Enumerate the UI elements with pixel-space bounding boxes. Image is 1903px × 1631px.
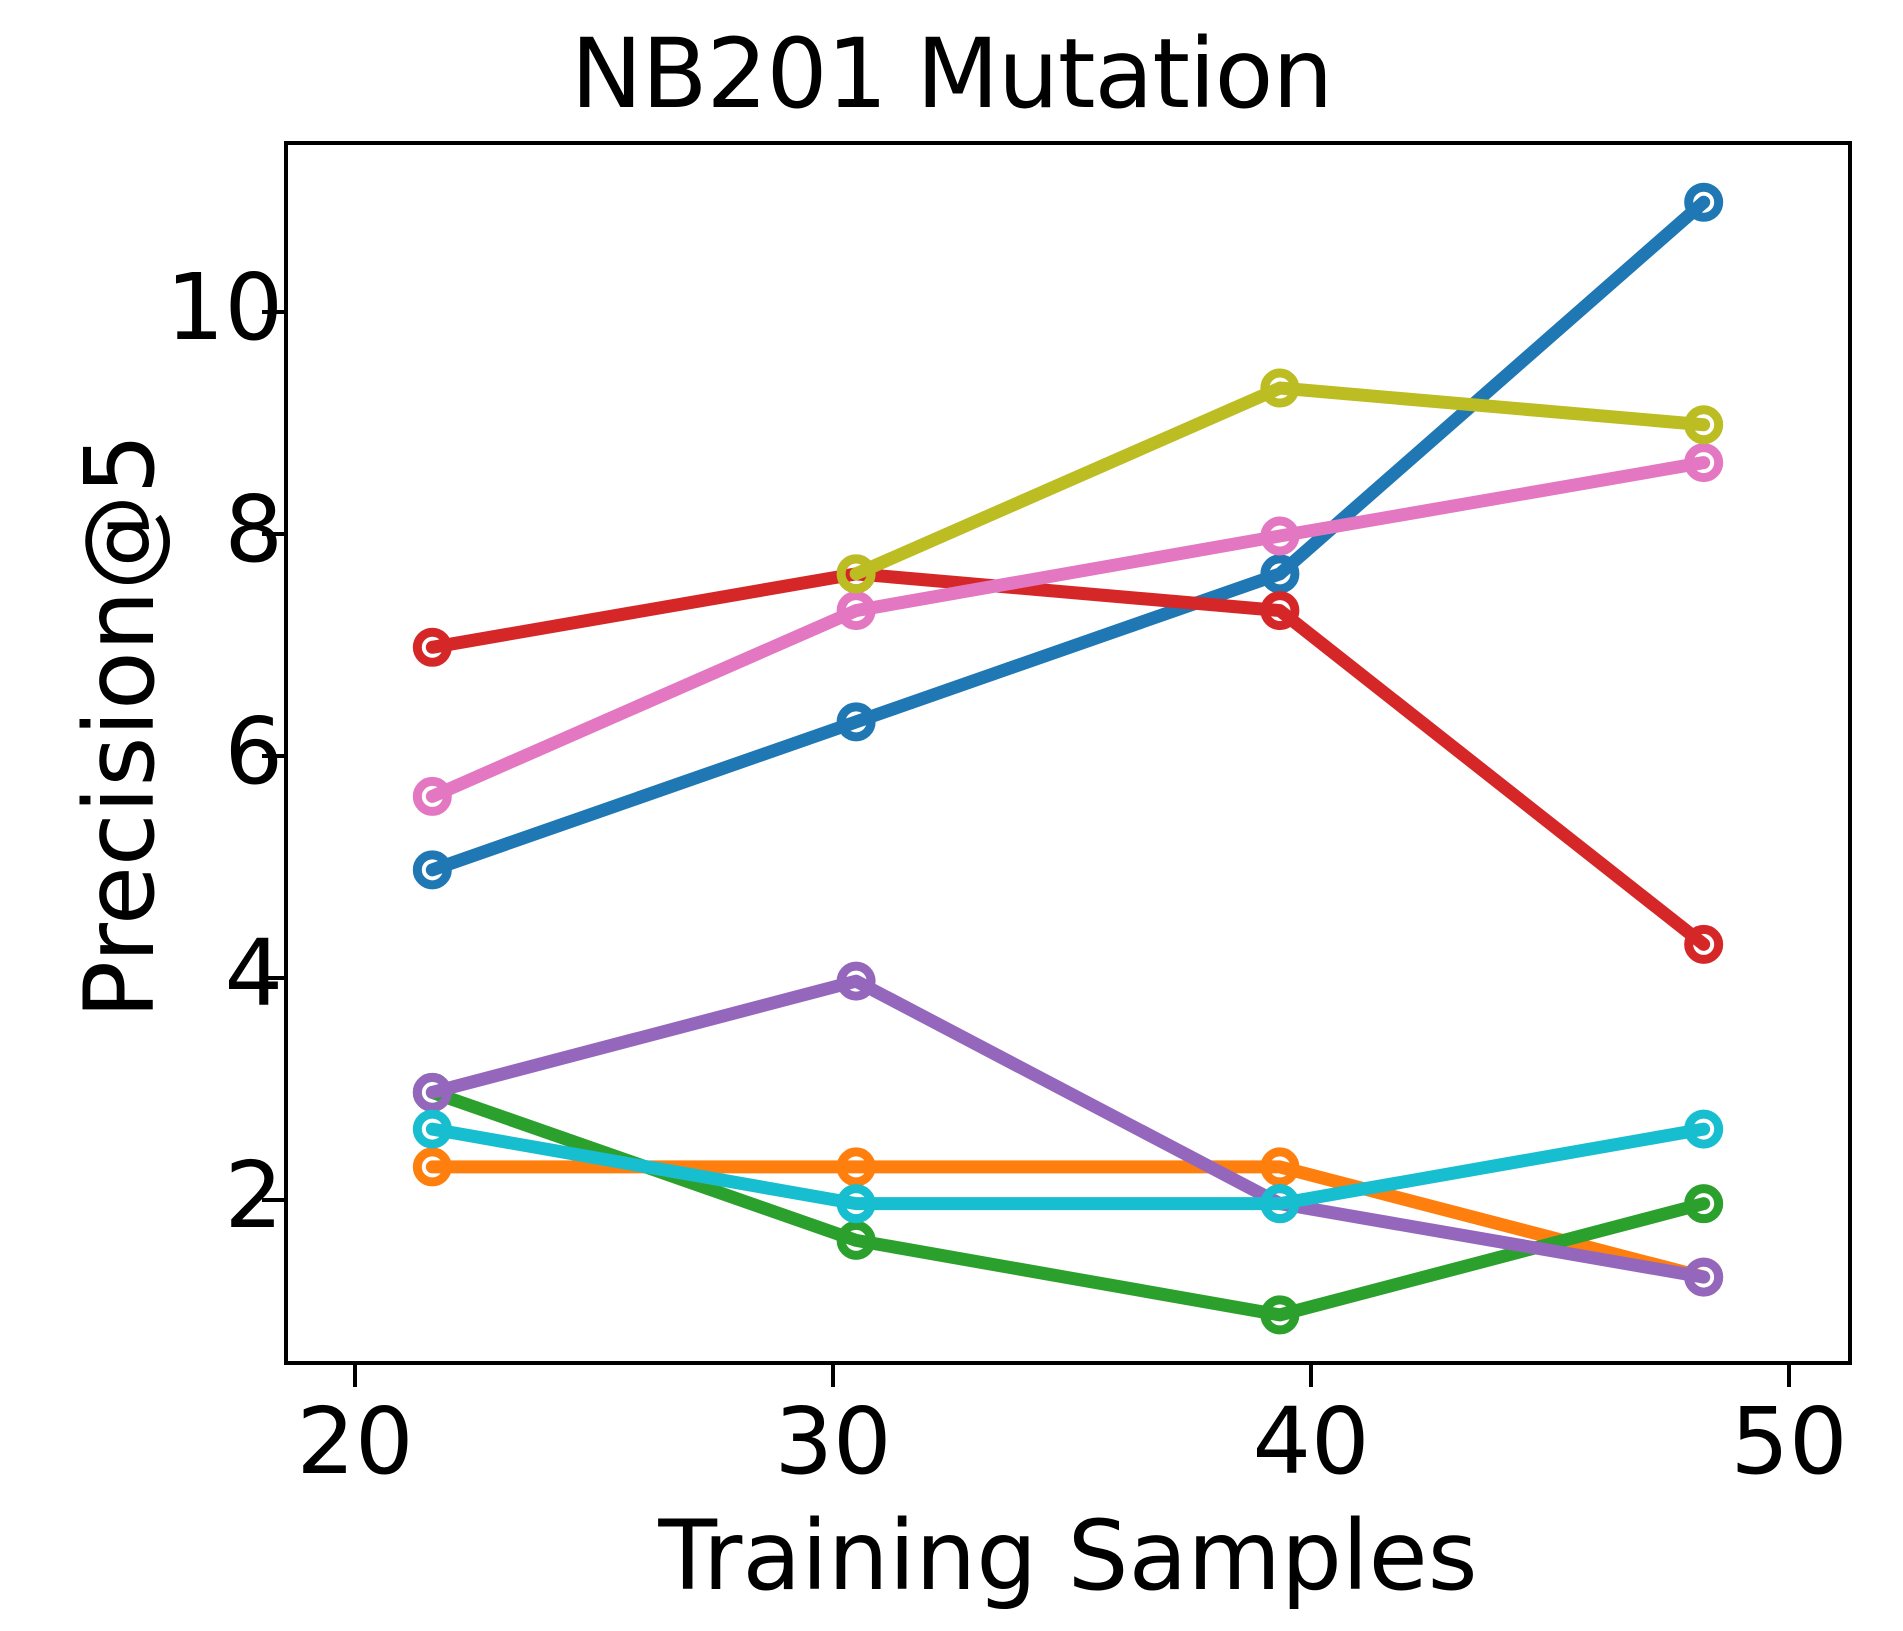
xtick-label-40: 40 [1252, 1396, 1369, 1488]
series-line [432, 463, 1703, 797]
xtick-mark-20 [353, 1365, 357, 1387]
series-line [432, 574, 1703, 945]
xtick-mark-50 [1787, 1365, 1791, 1387]
ytick-label-10: 10 [166, 262, 283, 354]
line-series-series-5 [417, 966, 1718, 1292]
y-axis-label: Precision@5 [64, 276, 176, 1176]
line-series-series-7 [417, 448, 1718, 812]
xtick-label-30: 30 [774, 1396, 891, 1488]
series-line [432, 202, 1703, 870]
xtick-mark-40 [1309, 1365, 1313, 1387]
series-line [432, 1167, 1703, 1277]
ytick-label-8: 8 [224, 484, 283, 576]
xtick-label-50: 50 [1730, 1396, 1847, 1488]
ytick-label-6: 6 [224, 706, 283, 798]
chart-title: NB201 Mutation [0, 18, 1903, 130]
x-axis-label: Training Samples [284, 1500, 1852, 1612]
chart-figure: NB201 Mutation 10 8 6 4 2 20 30 40 50 Tr… [0, 0, 1903, 1631]
xtick-label-20: 20 [296, 1396, 413, 1488]
ytick-label-2: 2 [224, 1150, 283, 1242]
xtick-mark-30 [831, 1365, 835, 1387]
ytick-label-4: 4 [224, 928, 283, 1020]
plot-area [284, 141, 1852, 1365]
line-series-series-1 [417, 187, 1718, 885]
line-series-series-4 [417, 559, 1718, 960]
